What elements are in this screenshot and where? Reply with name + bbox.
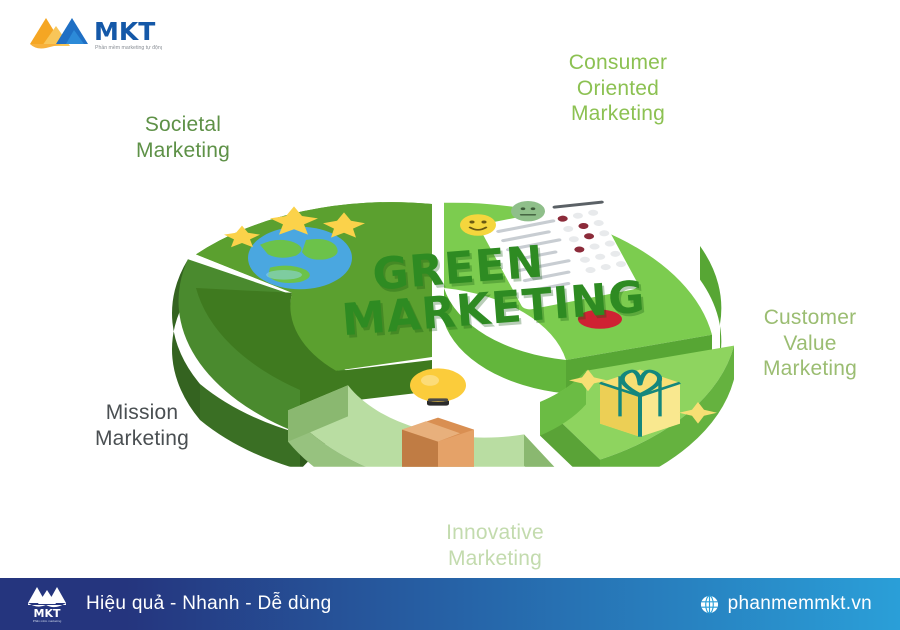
svg-text:Phần mềm marketing: Phần mềm marketing (33, 619, 62, 623)
donut-chart (0, 0, 900, 578)
neutral-face-icon (511, 201, 545, 221)
footer-website-text: phanmemmkt.vn (728, 593, 872, 615)
green-marketing-diagram: Societal Marketing Consumer Oriented Mar… (0, 0, 900, 578)
footer-bar: MKT Phần mềm marketing Hiệu quả - Nhanh … (0, 578, 900, 630)
mkt-footer-logo-icon: MKT Phần mềm marketing (24, 585, 70, 623)
label-societal-marketing: Societal Marketing (108, 112, 258, 163)
footer-slogan: Hiệu quả - Nhanh - Dễ dùng (86, 593, 331, 615)
footer-website[interactable]: phanmemmkt.vn (700, 593, 872, 615)
lightbulb-box-icon (402, 368, 474, 487)
smiley-face-icon (460, 214, 496, 236)
label-consumer-marketing: Consumer Oriented Marketing (528, 50, 708, 127)
label-mission-marketing: Mission Marketing (62, 400, 222, 451)
globe-icon (700, 595, 719, 614)
label-customer-marketing: Customer Value Marketing (730, 305, 890, 382)
red-dot-marker (578, 310, 622, 329)
label-innovative-marketing: Innovative Marketing (410, 520, 580, 571)
